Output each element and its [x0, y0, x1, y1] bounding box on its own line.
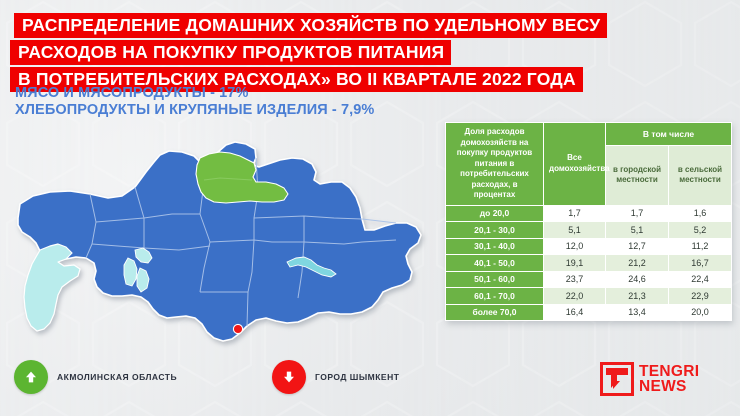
cell-all: 1,7 — [544, 205, 606, 222]
arrow-up-icon — [14, 360, 48, 394]
table-header-row-1: Доля расходов домохозяйств на покупку пр… — [446, 123, 732, 146]
cell-all: 19,1 — [544, 255, 606, 272]
row-label: более 70,0 — [446, 304, 544, 321]
logo-line-tengri: TENGRI — [639, 364, 699, 380]
title-line-1: РАСПРЕДЕЛЕНИЕ ДОМАШНИХ ХОЗЯЙСТВ ПО УДЕЛЬ… — [14, 13, 607, 38]
table-row: 30,1 - 40,0 12,0 12,7 11,2 — [446, 238, 732, 255]
cell-all: 5,1 — [544, 222, 606, 239]
map-svg — [4, 122, 444, 357]
cell-all: 16,4 — [544, 304, 606, 321]
logo-line-news: NEWS — [639, 379, 699, 395]
table-header-label-column: Доля расходов домохозяйств на покупку пр… — [446, 123, 544, 206]
infographic-canvas: РАСПРЕДЕЛЕНИЕ ДОМАШНИХ ХОЗЯЙСТВ ПО УДЕЛЬ… — [0, 0, 740, 416]
subtitle-block: МЯСО И МЯСОПРОДУКТЫ - 17% ХЛЕБОПРОДУКТЫ … — [15, 85, 374, 119]
cell-rural: 5,2 — [669, 222, 732, 239]
cell-urban: 21,3 — [606, 288, 669, 305]
cell-urban: 13,4 — [606, 304, 669, 321]
legend-item-akmola: АКМОЛИНСКАЯ ОБЛАСТЬ — [14, 360, 177, 394]
cell-rural: 22,9 — [669, 288, 732, 305]
cell-all: 22,0 — [544, 288, 606, 305]
cell-all: 23,7 — [544, 271, 606, 288]
cell-urban: 24,6 — [606, 271, 669, 288]
row-label: 60,1 - 70,0 — [446, 288, 544, 305]
row-label: 40,1 - 50,0 — [446, 255, 544, 272]
map-marker-shymkent — [233, 324, 242, 333]
table-body: до 20,0 1,7 1,7 1,6 20,1 - 30,0 5,1 5,1 … — [446, 205, 732, 321]
table-row: 50,1 - 60,0 23,7 24,6 22,4 — [446, 271, 732, 288]
cell-rural: 1,6 — [669, 205, 732, 222]
table-row: 60,1 - 70,0 22,0 21,3 22,9 — [446, 288, 732, 305]
cell-rural: 22,4 — [669, 271, 732, 288]
cell-rural: 11,2 — [669, 238, 732, 255]
legend-label-akmola: АКМОЛИНСКАЯ ОБЛАСТЬ — [57, 372, 177, 382]
legend-label-shymkent: ГОРОД ШЫМКЕНТ — [315, 372, 399, 382]
kazakhstan-map — [4, 122, 444, 357]
distribution-table: Доля расходов домохозяйств на покупку пр… — [445, 122, 731, 321]
table-row: 40,1 - 50,0 19,1 21,2 16,7 — [446, 255, 732, 272]
row-label: до 20,0 — [446, 205, 544, 222]
row-label: 30,1 - 40,0 — [446, 238, 544, 255]
table-header-rural: в сельской местности — [669, 146, 732, 206]
cell-all: 12,0 — [544, 238, 606, 255]
tengrinews-logo[interactable]: TENGRI NEWS — [600, 362, 699, 396]
cell-rural: 16,7 — [669, 255, 732, 272]
row-label: 20,1 - 30,0 — [446, 222, 544, 239]
tengrinews-wordmark: TENGRI NEWS — [639, 364, 699, 395]
page-title: РАСПРЕДЕЛЕНИЕ ДОМАШНИХ ХОЗЯЙСТВ ПО УДЕЛЬ… — [0, 13, 740, 94]
cell-urban: 21,2 — [606, 255, 669, 272]
cell-rural: 20,0 — [669, 304, 732, 321]
map-body — [18, 142, 421, 341]
table-row: до 20,0 1,7 1,7 1,6 — [446, 205, 732, 222]
cell-urban: 1,7 — [606, 205, 669, 222]
table-row: более 70,0 16,4 13,4 20,0 — [446, 304, 732, 321]
tengrinews-mark-icon — [600, 362, 634, 396]
table-row: 20,1 - 30,0 5,1 5,1 5,2 — [446, 222, 732, 239]
table-header-urban: в городской местности — [606, 146, 669, 206]
subtitle-line-bread: ХЛЕБОПРОДУКТЫ И КРУПЯНЫЕ ИЗДЕЛИЯ - 7,9% — [15, 102, 374, 119]
row-label: 50,1 - 60,0 — [446, 271, 544, 288]
cell-urban: 5,1 — [606, 222, 669, 239]
title-line-2: РАСХОДОВ НА ПОКУПКУ ПРОДУКТОВ ПИТАНИЯ — [10, 40, 451, 65]
table: Доля расходов домохозяйств на покупку пр… — [445, 122, 732, 321]
arrow-down-icon — [272, 360, 306, 394]
table-header-group: В том числе — [606, 123, 732, 146]
table-head: Доля расходов домохозяйств на покупку пр… — [446, 123, 732, 206]
legend-item-shymkent: ГОРОД ШЫМКЕНТ — [272, 360, 399, 394]
cell-urban: 12,7 — [606, 238, 669, 255]
table-header-all-households: Все домохозяйства — [544, 123, 606, 206]
subtitle-line-meat: МЯСО И МЯСОПРОДУКТЫ - 17% — [15, 85, 374, 102]
